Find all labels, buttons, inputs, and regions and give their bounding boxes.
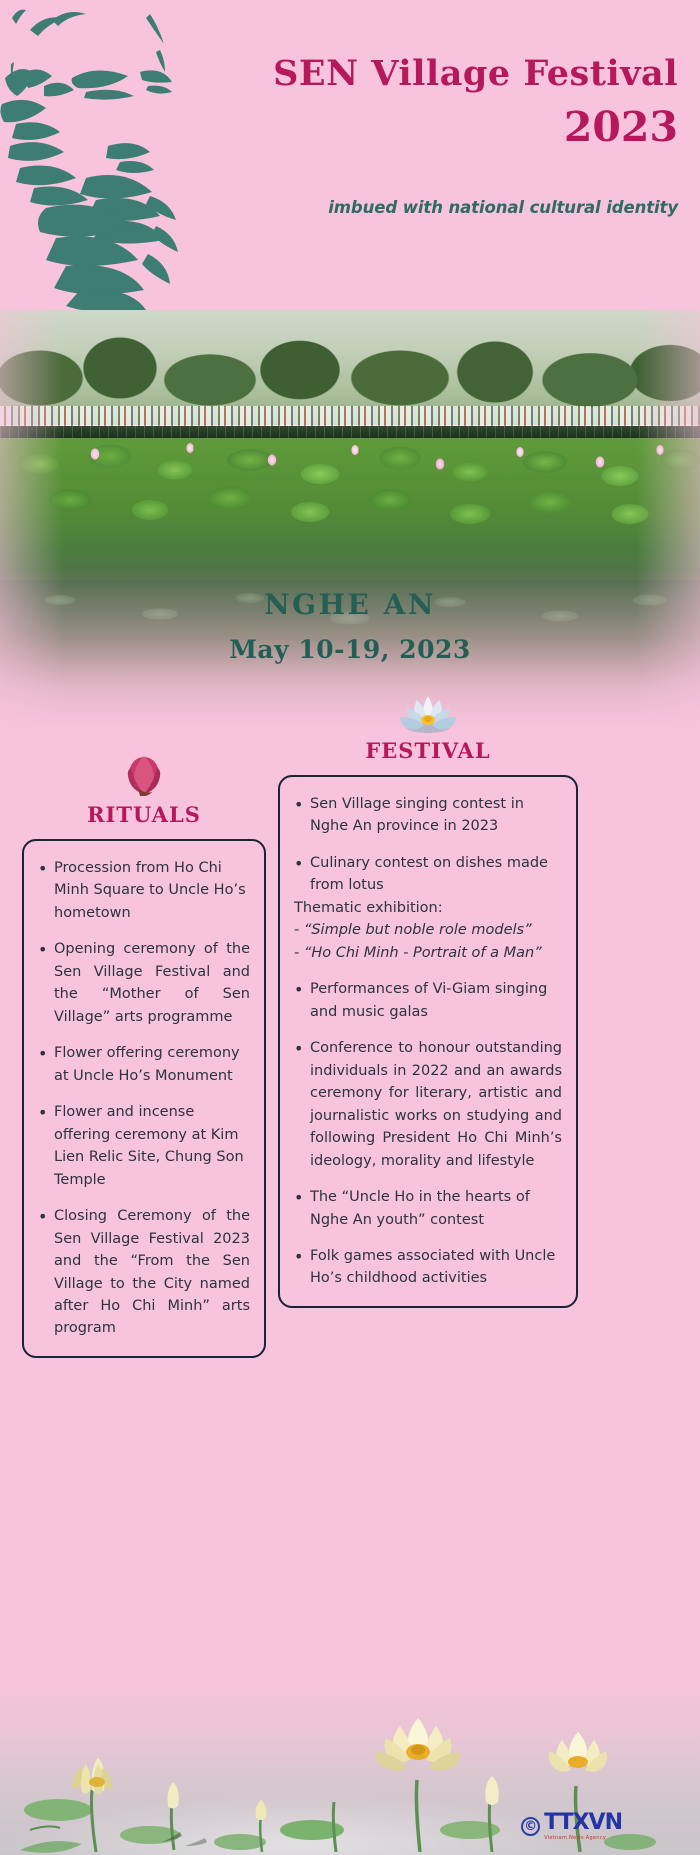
logo-wordmark: TTXVN [544, 1812, 622, 1834]
list-item: Culinary contest on dishes made from lot… [294, 852, 562, 897]
festival-heading: FESTIVAL [278, 738, 578, 763]
festival-subtitle: imbued with national cultural identity [238, 198, 678, 217]
list-item: Flower and incense offering ceremony at … [38, 1101, 250, 1191]
poster-footer: © TTXVN Vietnam News Agency [0, 1680, 700, 1855]
lotus-pond-photo [0, 310, 700, 730]
ttxvn-logo: © TTXVN Vietnam News Agency [521, 1812, 622, 1841]
list-item: Conference to honour outstanding individ… [294, 1037, 562, 1172]
list-item: Sen Village singing contest in Nghe An p… [294, 793, 562, 838]
white-lotus-flower-icon [395, 690, 461, 734]
list-item: Closing Ceremony of the Sen Village Fest… [38, 1205, 250, 1340]
rituals-list: Procession from Ho Chi Minh Square to Un… [38, 857, 250, 1340]
festival-dates: May 10-19, 2023 [0, 635, 700, 664]
thematic-exhibition-block: Thematic exhibition: - “Simple but noble… [294, 897, 562, 964]
list-item: The “Uncle Ho in the hearts of Nghe An y… [294, 1186, 562, 1231]
festival-list-bottom: Performances of Vi-Giam singing and musi… [294, 978, 562, 1290]
festival-title: SEN Village Festival [258, 56, 678, 93]
province-name: NGHE AN [0, 588, 700, 621]
exhibition-entry: - “Ho Chi Minh - Portrait of a Man” [294, 942, 562, 964]
festival-list-top: Sen Village singing contest in Nghe An p… [294, 793, 562, 897]
logo-text-block: TTXVN Vietnam News Agency [544, 1812, 622, 1841]
festival-year: 2023 [258, 107, 678, 148]
infographic-poster: SEN Village Festival 2023 imbued with na… [0, 0, 700, 1855]
list-item: Opening ceremony of the Sen Village Fest… [38, 938, 250, 1028]
pink-lotus-bud-icon [118, 748, 170, 796]
list-item: Flower offering ceremony at Uncle Ho’s M… [38, 1042, 250, 1087]
ho-chi-minh-portrait-silhouette [0, 0, 210, 310]
list-item: Procession from Ho Chi Minh Square to Un… [38, 857, 250, 924]
rituals-column: RITUALS Procession from Ho Chi Minh Squa… [22, 748, 266, 1358]
title-block: SEN Village Festival 2023 [258, 56, 678, 148]
festival-card: Sen Village singing contest in Nghe An p… [278, 775, 578, 1308]
logo-tagline: Vietnam News Agency [544, 1835, 606, 1841]
list-item: Performances of Vi-Giam singing and musi… [294, 978, 562, 1023]
festival-column: FESTIVAL Sen Village singing contest in … [278, 690, 578, 1308]
poster-header: SEN Village Festival 2023 imbued with na… [0, 0, 700, 310]
exhibition-entry: - “Simple but noble role models” [294, 919, 562, 941]
exhibition-label: Thematic exhibition: [294, 897, 562, 919]
location-block: NGHE AN May 10-19, 2023 [0, 588, 700, 664]
rituals-card: Procession from Ho Chi Minh Square to Un… [22, 839, 266, 1358]
copyright-icon: © [521, 1817, 540, 1836]
rituals-heading: RITUALS [22, 802, 266, 827]
list-item: Folk games associated with Uncle Ho’s ch… [294, 1245, 562, 1290]
